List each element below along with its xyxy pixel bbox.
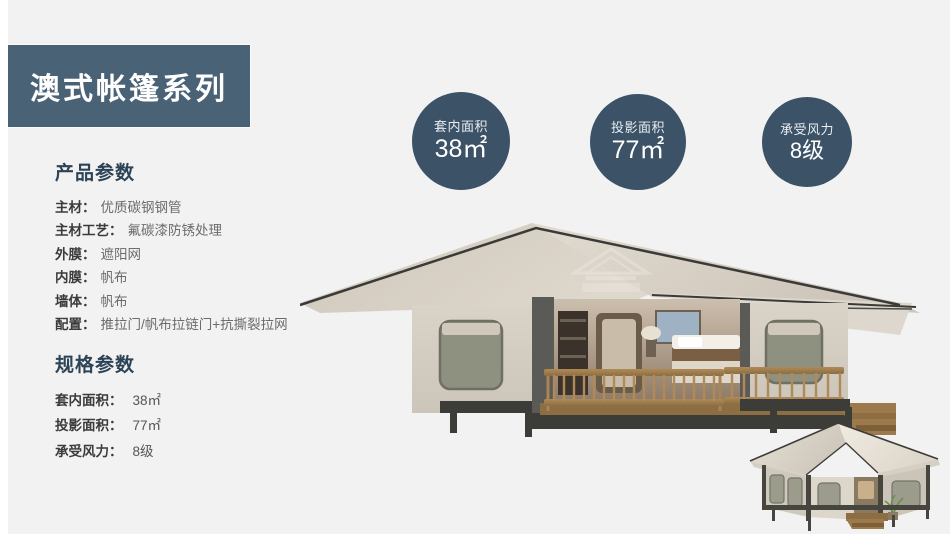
param-row: 外膜： 遮阳网 — [55, 243, 355, 267]
spec-params-block: 规格参数 套内面积： 38㎡ 投影面积： 77㎡ 承受风力： 8级 — [55, 355, 355, 464]
param-value: 遮阳网 — [101, 248, 142, 262]
title-banner: 澳式帐篷系列 — [0, 45, 250, 127]
param-row: 墙体： 帆布 — [55, 290, 355, 314]
badge-label: 投影面积 — [611, 121, 665, 134]
page-title: 澳式帐篷系列 — [0, 64, 228, 108]
spec-label: 投影面积： — [55, 419, 123, 433]
spec-value: 38㎡ — [133, 394, 162, 408]
badge-interior-area: 套内面积 38㎡ — [412, 92, 510, 190]
spec-value: 77㎡ — [133, 419, 162, 433]
spec-row: 承受风力： 8级 — [55, 439, 355, 465]
product-params-heading: 产品参数 — [55, 163, 355, 186]
badge-value: 8级 — [790, 140, 824, 162]
param-label: 墙体： — [55, 295, 96, 309]
badge-label: 承受风力 — [780, 123, 834, 136]
param-value: 帆布 — [101, 271, 128, 285]
secondary-tent-image — [742, 415, 950, 534]
param-value: 优质碳钢钢管 — [101, 201, 182, 215]
badge-label: 套内面积 — [434, 120, 488, 133]
spec-row: 投影面积： 77㎡ — [55, 413, 355, 439]
param-label: 主材： — [55, 201, 96, 215]
param-value: 氟碳漆防锈处理 — [128, 224, 223, 238]
param-row: 主材工艺： 氟碳漆防锈处理 — [55, 219, 355, 243]
product-params-list: 主材： 优质碳钢钢管 主材工艺： 氟碳漆防锈处理 外膜： 遮阳网 内膜： 帆布 … — [55, 196, 355, 337]
stat-badges: 套内面积 38㎡ 投影面积 77㎡ 承受风力 8级 — [412, 92, 872, 197]
param-value: 帆布 — [101, 295, 128, 309]
spec-params-heading: 规格参数 — [55, 355, 355, 378]
left-edge-gutter — [0, 0, 8, 534]
param-value: 推拉门/帆布拉链门+抗撕裂拉网 — [101, 318, 288, 332]
badge-value: 38㎡ — [435, 137, 488, 162]
spec-value: 8级 — [133, 445, 154, 459]
specs-column: 产品参数 主材： 优质碳钢钢管 主材工艺： 氟碳漆防锈处理 外膜： 遮阳网 内膜… — [55, 163, 355, 464]
param-label: 主材工艺： — [55, 224, 123, 238]
badge-wind-resistance: 承受风力 8级 — [762, 97, 852, 187]
param-label: 内膜： — [55, 271, 96, 285]
param-row: 内膜： 帆布 — [55, 266, 355, 290]
param-label: 配置： — [55, 318, 96, 332]
spec-label: 套内面积： — [55, 394, 123, 408]
param-label: 外膜： — [55, 248, 96, 262]
badge-value: 77㎡ — [612, 138, 665, 163]
spec-row: 套内面积： 38㎡ — [55, 388, 355, 414]
param-row: 主材： 优质碳钢钢管 — [55, 196, 355, 220]
param-row: 配置： 推拉门/帆布拉链门+抗撕裂拉网 — [55, 313, 355, 337]
spec-label: 承受风力： — [55, 445, 123, 459]
slide-canvas: 澳式帐篷系列 产品参数 主材： 优质碳钢钢管 主材工艺： 氟碳漆防锈处理 外膜：… — [0, 0, 950, 534]
badge-projected-area: 投影面积 77㎡ — [590, 94, 686, 190]
